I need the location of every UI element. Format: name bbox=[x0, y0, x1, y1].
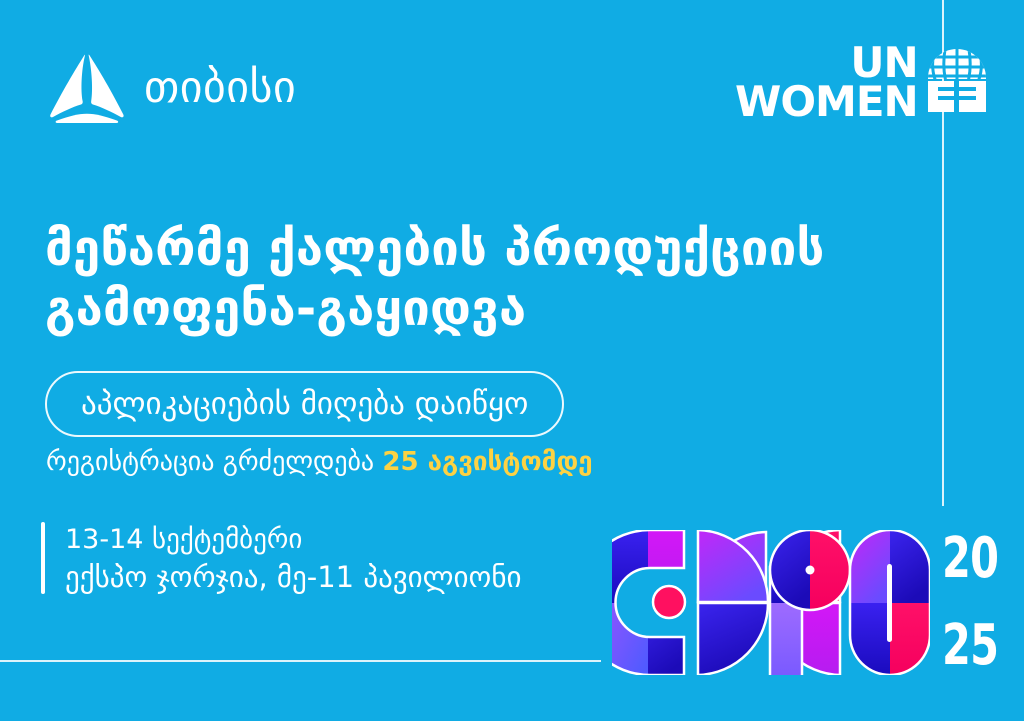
expo-wordmark-icon bbox=[612, 530, 930, 675]
poster-canvas: თიბისი UN WOMEN bbox=[0, 0, 1024, 721]
un-women-logo: UN WOMEN bbox=[735, 44, 990, 121]
page-title: მეწარმე ქალების პროდუქციის გამოფენა-გაყი… bbox=[45, 219, 915, 339]
tbc-triangle-icon bbox=[48, 52, 126, 124]
accent-bar bbox=[41, 522, 45, 594]
registration-deadline-line: რეგისტრაცია გრძელდება 25 აგვისტომდე bbox=[46, 447, 593, 478]
event-info-block: 13-14 სექტემბერი ექსპო ჯორჯია, მე-11 პავ… bbox=[41, 522, 522, 594]
registration-prefix: რეგისტრაცია გრძელდება bbox=[46, 447, 382, 477]
expo-year-bottom: 25 bbox=[942, 619, 998, 672]
un-women-wordmark: UN WOMEN bbox=[735, 44, 918, 121]
applications-open-label: აპლიკაციების მიღება დაიწყო bbox=[81, 389, 528, 420]
event-date: 13-14 სექტემბერი bbox=[65, 524, 522, 555]
event-venue: ექსპო ჯორჯია, მე-11 პავილიონი bbox=[65, 561, 522, 594]
un-women-emblem-icon bbox=[924, 48, 990, 114]
tbc-wordmark: თიბისი bbox=[144, 66, 296, 110]
event-info-text: 13-14 სექტემბერი ექსპო ჯორჯია, მე-11 პავ… bbox=[65, 522, 522, 594]
expo-year-top: 20 bbox=[942, 532, 998, 585]
expo-year: 20 25 bbox=[942, 532, 1018, 672]
expo-2025-logo: 20 25 bbox=[612, 530, 1018, 675]
registration-deadline: 25 აგვისტომდე bbox=[382, 447, 592, 477]
un-women-line-2: WOMEN bbox=[735, 83, 918, 122]
applications-open-badge[interactable]: აპლიკაციების მიღება დაიწყო bbox=[45, 371, 564, 437]
tbc-logo: თიბისი bbox=[48, 52, 296, 124]
horizontal-rule bbox=[0, 660, 601, 662]
